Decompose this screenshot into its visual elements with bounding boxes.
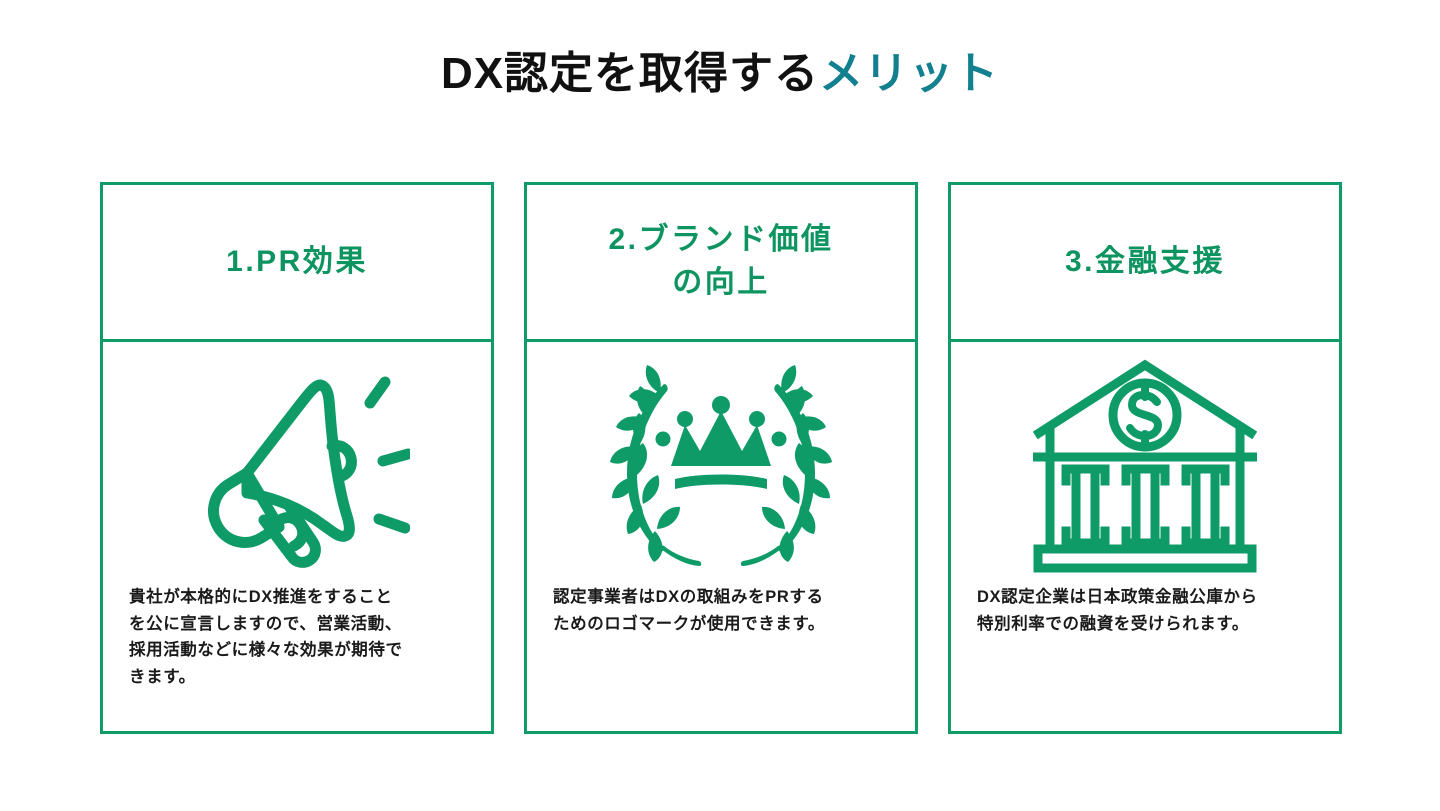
card-title-pr-effect: 1.PR効果 (226, 241, 368, 284)
card-title-financial-support: 3.金融支援 (1065, 241, 1225, 284)
card-header-financial-support: 3.金融支援 (951, 185, 1339, 342)
card-description-pr-effect: 貴社が本格的にDX推進をすること を公に宣言しますので、営業活動、 採用活動など… (129, 584, 465, 691)
benefit-card-grid: 1.PR効果 (100, 182, 1342, 734)
page-title-main: DX認定を取得する (441, 49, 819, 98)
megaphone-icon (184, 360, 410, 570)
icon-container-pr-effect (103, 342, 491, 588)
bank-dollar-icon (1033, 357, 1257, 573)
card-body-brand-value: 認定事業者はDXの取組みをPRする ためのロゴマークが使用できます。 (527, 342, 915, 731)
icon-container-brand-value (527, 342, 915, 588)
page-title: DX認定を取得するメリット (0, 48, 1440, 101)
card-description-brand-value: 認定事業者はDXの取組みをPRする ためのロゴマークが使用できます。 (553, 584, 889, 637)
card-description-financial-support: DX認定企業は日本政策金融公庫から 特別利率での融資を受けられます。 (977, 584, 1313, 637)
benefit-card-brand-value: 2.ブランド価値 の向上 (524, 182, 918, 734)
benefit-card-financial-support: 3.金融支援 (948, 182, 1342, 734)
card-body-pr-effect: 貴社が本格的にDX推進をすること を公に宣言しますので、営業活動、 採用活動など… (103, 342, 491, 731)
card-header-brand-value: 2.ブランド価値 の向上 (527, 185, 915, 342)
page-title-accent: メリット (819, 49, 999, 98)
benefit-card-pr-effect: 1.PR効果 (100, 182, 494, 734)
icon-container-financial-support (951, 342, 1339, 588)
card-body-financial-support: DX認定企業は日本政策金融公庫から 特別利率での融資を受けられます。 (951, 342, 1339, 731)
laurel-wreath-crown-icon (601, 363, 841, 568)
card-header-pr-effect: 1.PR効果 (103, 185, 491, 342)
card-title-brand-value: 2.ブランド価値 の向上 (608, 219, 833, 304)
